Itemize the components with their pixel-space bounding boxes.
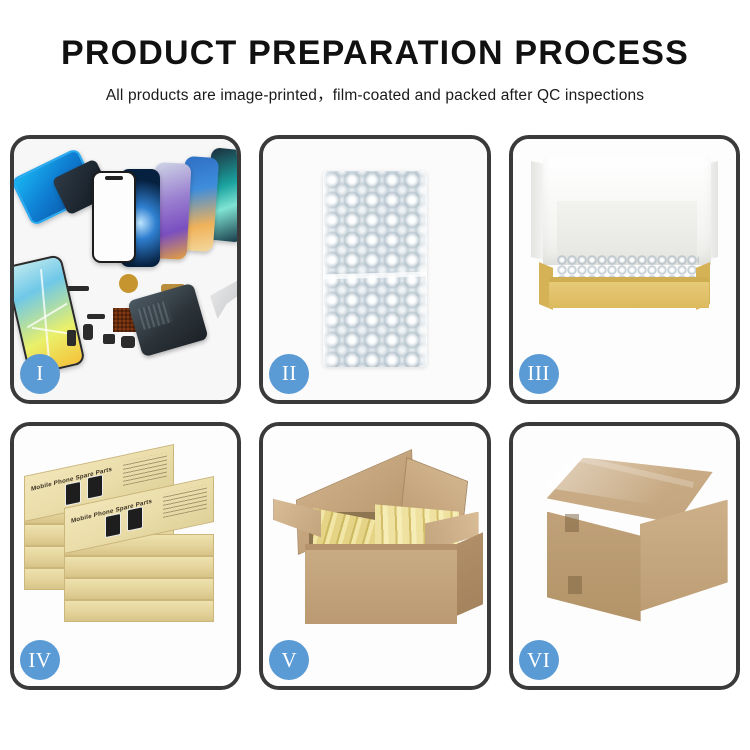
product-preparation-infographic: PRODUCT PREPARATION PROCESS All products… (0, 0, 750, 750)
part-small-flex (83, 324, 93, 340)
part-bracket (87, 314, 105, 319)
box-product-thumbnail (87, 474, 103, 499)
part-connector (67, 286, 89, 291)
step-badge-3: III (519, 354, 559, 394)
box-spec-lines (123, 452, 167, 485)
box-stack: Mobile Phone Spare Parts Mobile Phone Sp… (22, 444, 232, 634)
step-badge-2: II (269, 354, 309, 394)
page-title: PRODUCT PREPARATION PROCESS (0, 36, 750, 72)
stacked-box-edge (64, 578, 214, 600)
crack-line (32, 327, 72, 335)
carton-side-face (457, 532, 483, 616)
step-5-image: V (263, 426, 486, 687)
part-sim-tray (67, 330, 76, 346)
stacked-box-edge (64, 556, 214, 578)
box-front-kraft (549, 282, 709, 308)
box-product-thumbnail (127, 506, 143, 531)
part-speaker-gold (119, 274, 138, 293)
step-panel-1: I (10, 135, 241, 404)
phone-glass-protector (92, 171, 136, 263)
carton-handle-notch-top (565, 514, 579, 532)
page-subtitle: All products are image-printed，film-coat… (0, 83, 750, 105)
steps-grid: I II (10, 135, 740, 690)
bubble-wrapped-item (323, 171, 427, 367)
step-panel-2: II (259, 135, 490, 404)
carton-front-face (305, 550, 457, 624)
stacked-box-edge (64, 600, 214, 622)
wrap-edge-right (418, 171, 427, 367)
step-panel-5: V (259, 422, 490, 691)
step-6-image: VI (513, 426, 736, 687)
crack-line (27, 303, 67, 328)
step-badge-4: IV (20, 640, 60, 680)
step-badge-6: VI (519, 640, 559, 680)
box-product-thumbnail (105, 512, 121, 537)
step-3-image: III (513, 139, 736, 400)
box-inner-wall (557, 201, 697, 259)
step-badge-1: I (20, 354, 60, 394)
header: PRODUCT PREPARATION PROCESS All products… (0, 0, 750, 105)
step-4-image: Mobile Phone Spare Parts Mobile Phone Sp… (14, 426, 237, 687)
step-panel-4: Mobile Phone Spare Parts Mobile Phone Sp… (10, 422, 241, 691)
phone-notch (105, 176, 123, 180)
step-panel-6: VI (509, 422, 740, 691)
wrap-edge-left (323, 171, 332, 367)
carton-handle-notch-bottom (568, 576, 582, 594)
bubble-texture-secondary (323, 171, 427, 367)
box-product-thumbnail (65, 480, 81, 505)
step-2-image: II (263, 139, 486, 400)
step-panel-3: III (509, 135, 740, 404)
part-small-clip (103, 334, 115, 344)
box-spec-lines (163, 484, 207, 517)
part-camera-module (121, 336, 135, 348)
step-1-image: I (14, 139, 237, 400)
